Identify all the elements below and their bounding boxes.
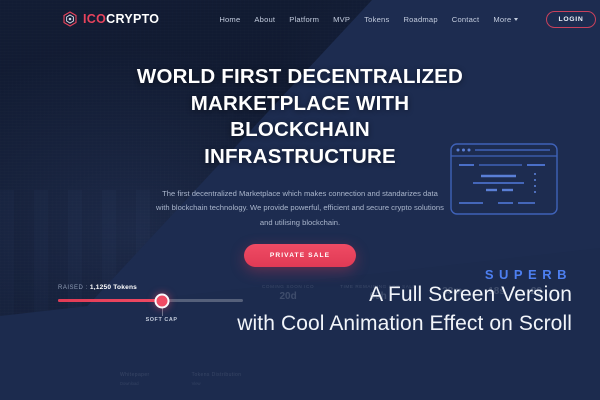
hero-cta-wrapper: PRIVATE SALE xyxy=(0,244,600,267)
footer-link-title: Whitepaper xyxy=(120,372,150,378)
footer-link-item: Tokens Distribution View xyxy=(192,372,242,386)
promo-overlay: SUPERB A Full Screen Version with Cool A… xyxy=(237,268,572,339)
site-header: ICOCRYPTO Home About Platform MVP Tokens… xyxy=(0,0,600,38)
logo-text-primary: ICO xyxy=(83,12,106,26)
chevron-down-icon xyxy=(514,18,518,21)
nav-item-more-label: More xyxy=(493,15,511,24)
progress-fill xyxy=(58,299,162,302)
logo-text-secondary: CRYPTO xyxy=(106,12,159,26)
raised-prefix: RAISED : xyxy=(58,285,88,291)
nav-item-home[interactable]: Home xyxy=(219,15,240,24)
raised-label: RAISED : 1,1250 Tokens xyxy=(58,284,243,291)
footer-link-subtitle: View xyxy=(192,381,242,386)
promo-line-1: A Full Screen Version xyxy=(237,281,572,310)
page-title: WORLD FIRST DECENTRALIZED MARKETPLACE WI… xyxy=(135,64,465,171)
raised-amount: 1,1250 Tokens xyxy=(90,284,137,291)
footer-link-title: Tokens Distribution xyxy=(192,372,242,378)
footer-link-item: Whitepaper Download xyxy=(120,372,150,386)
footer-link-subtitle: Download xyxy=(120,381,150,386)
raised-progress-section: RAISED : 1,1250 Tokens SOFT CAP xyxy=(58,284,243,302)
soft-cap-label: SOFT CAP xyxy=(146,317,178,323)
nav-item-platform[interactable]: Platform xyxy=(289,15,319,24)
login-button[interactable]: LOGIN xyxy=(546,11,595,28)
logo[interactable]: ICOCRYPTO xyxy=(62,11,159,27)
main-navigation: Home About Platform MVP Tokens Roadmap C… xyxy=(219,11,595,28)
hero-screenshot: COMING SOON ICO 20d TIME REMAINING FOR S… xyxy=(0,0,600,400)
nav-item-tokens[interactable]: Tokens xyxy=(364,15,389,24)
progress-handle[interactable] xyxy=(154,293,169,308)
private-sale-button[interactable]: PRIVATE SALE xyxy=(244,244,356,267)
background-footer-links: Whitepaper Download Tokens Distribution … xyxy=(120,372,241,386)
promo-kicker: SUPERB xyxy=(237,268,572,281)
promo-line-2: with Cool Animation Effect on Scroll xyxy=(237,310,572,339)
progress-slider[interactable]: SOFT CAP xyxy=(58,299,243,302)
nav-item-roadmap[interactable]: Roadmap xyxy=(403,15,437,24)
logo-text: ICOCRYPTO xyxy=(83,13,159,26)
nav-item-about[interactable]: About xyxy=(254,15,275,24)
nav-item-mvp[interactable]: MVP xyxy=(333,15,350,24)
hero-content: WORLD FIRST DECENTRALIZED MARKETPLACE WI… xyxy=(0,64,600,267)
hexagon-logo-icon xyxy=(62,11,78,27)
hero-description: The first decentralized Marketplace whic… xyxy=(155,187,445,231)
nav-item-contact[interactable]: Contact xyxy=(452,15,480,24)
nav-item-more[interactable]: More xyxy=(493,15,518,24)
